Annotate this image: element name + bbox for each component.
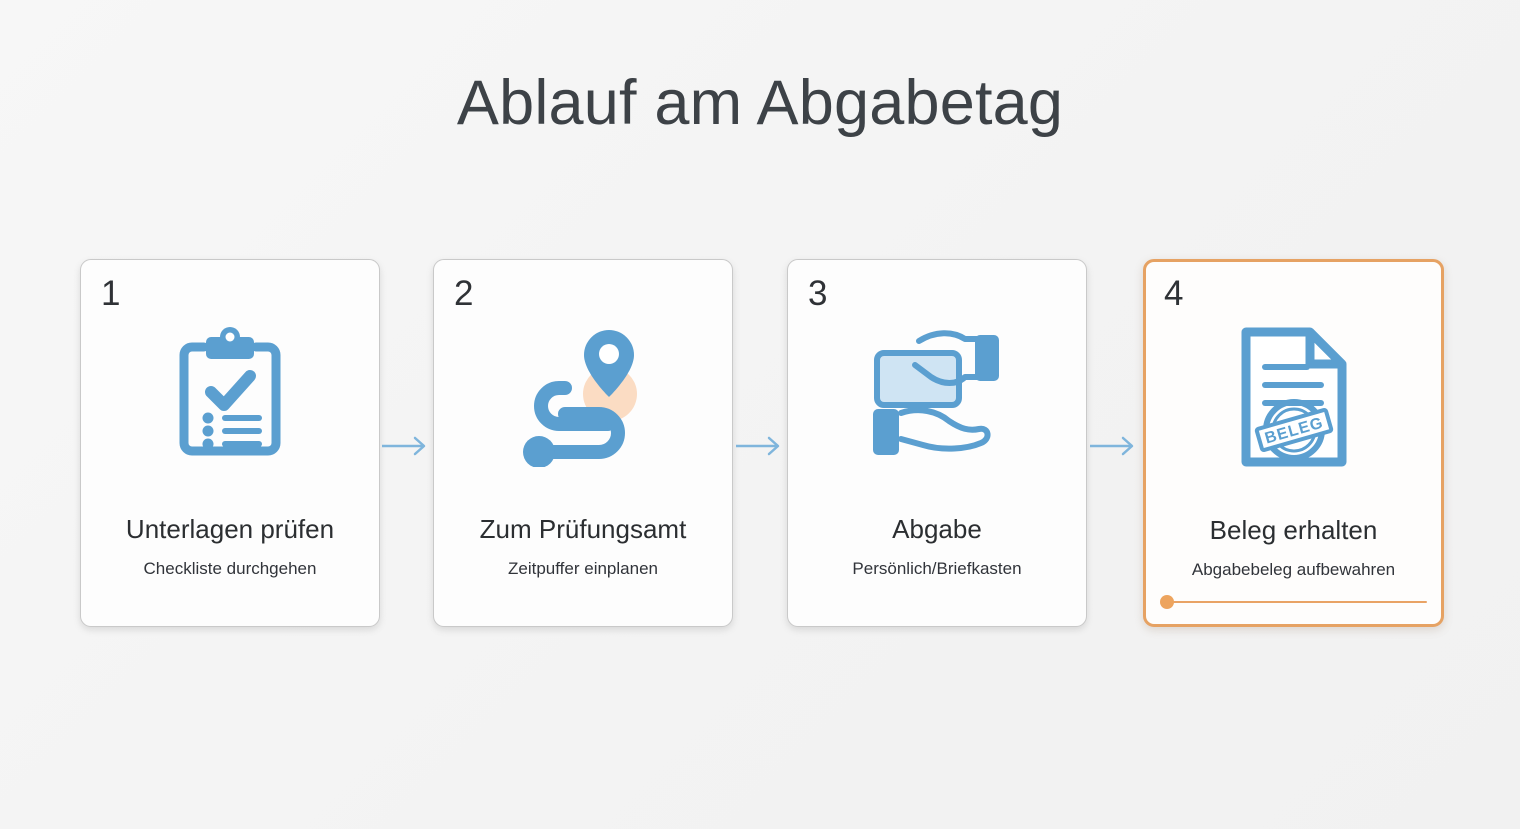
step-card-2[interactable]: 2 Zum Prüfungsamt Zeitpuffer einplanen bbox=[433, 259, 733, 627]
arrow-step-3-to-4 bbox=[1090, 435, 1140, 457]
step-number: 2 bbox=[454, 276, 473, 311]
step-number: 3 bbox=[808, 276, 827, 311]
step-card-4[interactable]: 4 BELEG Beleg erhalten Abgabebeleg aufbe… bbox=[1143, 259, 1444, 627]
progress-track bbox=[1164, 601, 1427, 603]
step-card-3[interactable]: 3 Abgabe Persönlich/Briefkasten bbox=[787, 259, 1087, 627]
step-subtitle: Abgabebeleg aufbewahren bbox=[1146, 561, 1441, 580]
progress-knob bbox=[1160, 595, 1174, 609]
step-card-1[interactable]: 1 Unterlagen prüfen Checkliste durchgehe… bbox=[80, 259, 380, 627]
step-progress-bar bbox=[1160, 595, 1427, 609]
arrow-step-2-to-3 bbox=[736, 435, 786, 457]
step-subtitle: Zeitpuffer einplanen bbox=[434, 560, 732, 579]
step-title: Unterlagen prüfen bbox=[81, 515, 379, 544]
step-number: 1 bbox=[101, 276, 120, 311]
step-title: Abgabe bbox=[788, 515, 1086, 544]
document-stamp-beleg-icon: BELEG bbox=[1146, 314, 1441, 479]
step-subtitle: Checkliste durchgehen bbox=[81, 560, 379, 579]
step-subtitle: Persönlich/Briefkasten bbox=[788, 560, 1086, 579]
step-number: 4 bbox=[1164, 276, 1183, 311]
clipboard-check-icon bbox=[81, 312, 379, 477]
step-title: Beleg erhalten bbox=[1146, 516, 1441, 545]
page-title: Ablauf am Abgabetag bbox=[0, 70, 1520, 136]
handover-document-icon bbox=[788, 312, 1086, 477]
step-title: Zum Prüfungsamt bbox=[434, 515, 732, 544]
route-map-pin-icon bbox=[434, 312, 732, 477]
process-flow: 1 Unterlagen prüfen Checkliste durchgehe… bbox=[80, 259, 1444, 629]
arrow-step-1-to-2 bbox=[382, 435, 432, 457]
